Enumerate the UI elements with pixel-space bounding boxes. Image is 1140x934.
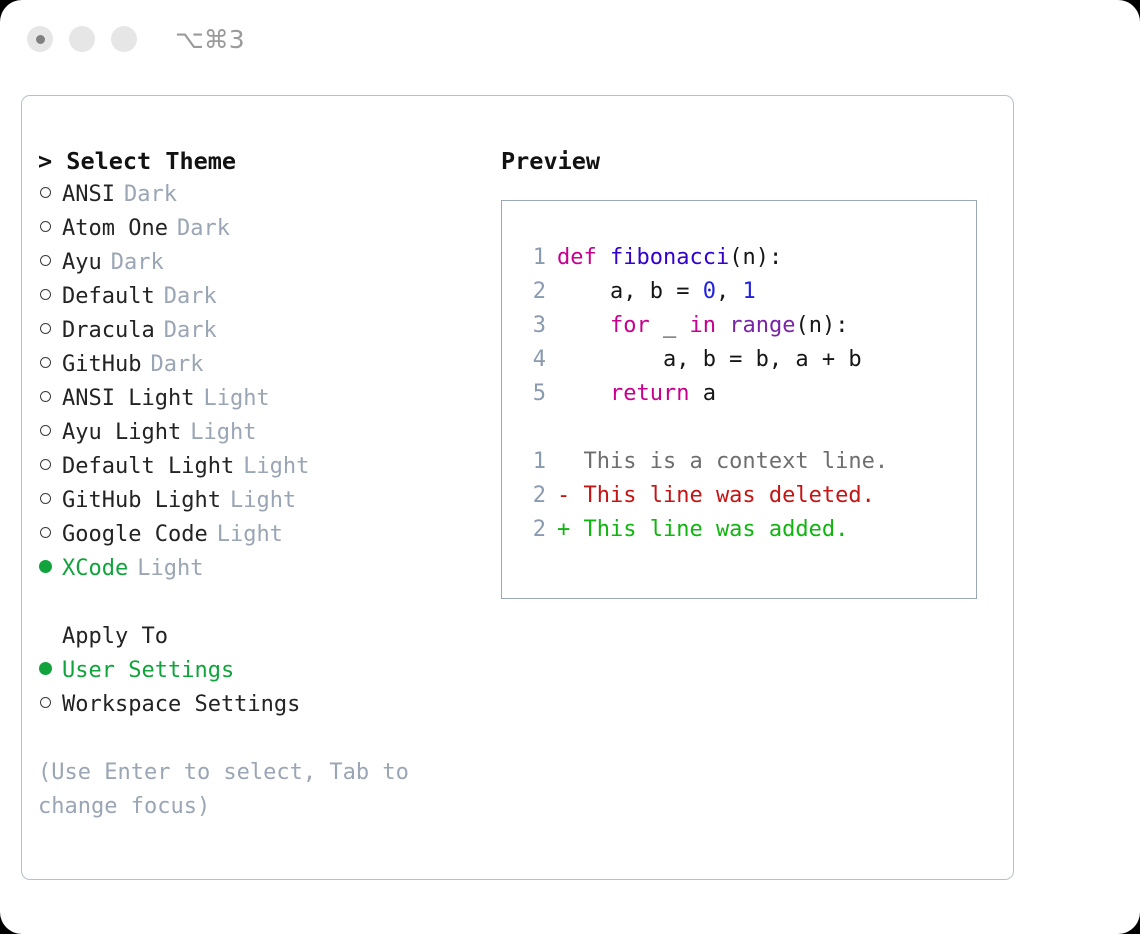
theme-list-item[interactable]: Default LightLight (38, 450, 493, 484)
app-window: ⌥⌘3 > Select Theme ANSIDarkAtom OneDarkA… (0, 0, 1140, 934)
diff-line: 2- This line was deleted. (522, 479, 976, 513)
code-line: 3 for _ in range(n): (522, 309, 976, 343)
theme-list-item[interactable]: XCodeLight (38, 552, 493, 586)
theme-list-item[interactable]: DraculaDark (38, 314, 493, 348)
theme-variant-badge: Light (208, 518, 283, 552)
theme-variant-badge: Dark (115, 178, 177, 212)
code-line: 2 a, b = 0, 1 (522, 275, 976, 309)
line-number: 1 (522, 445, 557, 479)
preview-code-box: 1def fibonacci(n):2 a, b = 0, 13 for _ i… (501, 200, 977, 599)
apply-to-heading: Apply To (38, 620, 493, 654)
line-content: a, b = 0, 1 (557, 275, 756, 309)
traffic-light-buttons (27, 26, 137, 52)
theme-name: GitHub Light (62, 484, 221, 518)
traffic-light-minimize-icon[interactable] (69, 26, 95, 52)
theme-list-item[interactable]: GitHubDark (38, 348, 493, 382)
theme-variant-badge: Light (221, 484, 296, 518)
theme-name: GitHub (62, 348, 141, 382)
code-diff-gap (522, 411, 976, 445)
theme-list-item[interactable]: GitHub LightLight (38, 484, 493, 518)
theme-variant-badge: Light (194, 382, 269, 416)
list-spacer (38, 586, 493, 620)
select-theme-heading: > Select Theme (38, 144, 493, 178)
line-content: return a (557, 377, 716, 411)
theme-name: Ayu Light (62, 416, 181, 450)
line-content: - This line was deleted. (557, 479, 875, 513)
line-content: + This line was added. (557, 513, 848, 547)
diff-line: 2+ This line was added. (522, 513, 976, 547)
theme-variant-badge: Dark (155, 314, 217, 348)
traffic-light-active-dot (36, 35, 45, 44)
dialog-frame: > Select Theme ANSIDarkAtom OneDarkAyuDa… (21, 95, 1014, 880)
line-number: 3 (522, 309, 557, 343)
diff-sample: 1 This is a context line.2- This line wa… (522, 445, 976, 547)
keyboard-shortcut-label: ⌥⌘3 (175, 25, 245, 54)
theme-variant-badge: Dark (155, 280, 217, 314)
theme-variant-badge: Dark (102, 246, 164, 280)
code-sample: 1def fibonacci(n):2 a, b = 0, 13 for _ i… (522, 241, 976, 411)
apply-to-label: Workspace Settings (62, 688, 300, 722)
line-number: 2 (522, 513, 557, 547)
theme-name: Default Light (62, 450, 234, 484)
theme-list: ANSIDarkAtom OneDarkAyuDarkDefaultDarkDr… (38, 178, 493, 586)
traffic-light-maximize-icon[interactable] (111, 26, 137, 52)
theme-list-item[interactable]: Google CodeLight (38, 518, 493, 552)
line-number: 2 (522, 479, 557, 513)
apply-to-options: User SettingsWorkspace Settings (38, 654, 493, 722)
theme-list-item[interactable]: ANSI LightLight (38, 382, 493, 416)
theme-variant-badge: Light (128, 552, 203, 586)
theme-list-item[interactable]: DefaultDark (38, 280, 493, 314)
theme-list-item[interactable]: Ayu LightLight (38, 416, 493, 450)
apply-to-label: User Settings (62, 654, 234, 688)
line-number: 5 (522, 377, 557, 411)
theme-name: Dracula (62, 314, 155, 348)
diff-line: 1 This is a context line. (522, 445, 976, 479)
theme-name: Atom One (62, 212, 168, 246)
theme-list-item[interactable]: Atom OneDark (38, 212, 493, 246)
preview-panel: Preview 1def fibonacci(n):2 a, b = 0, 13… (501, 144, 991, 599)
theme-variant-badge: Dark (168, 212, 230, 246)
theme-name: Ayu (62, 246, 102, 280)
theme-selection-panel: > Select Theme ANSIDarkAtom OneDarkAyuDa… (38, 144, 493, 824)
theme-name: Default (62, 280, 155, 314)
line-number: 1 (522, 241, 557, 275)
traffic-light-close-icon[interactable] (27, 26, 53, 52)
line-number: 2 (522, 275, 557, 309)
apply-to-option[interactable]: Workspace Settings (38, 688, 493, 722)
title-bar: ⌥⌘3 (0, 0, 1140, 78)
theme-name: XCode (62, 552, 128, 586)
theme-variant-badge: Light (181, 416, 256, 450)
code-line: 1def fibonacci(n): (522, 241, 976, 275)
code-line: 4 a, b = b, a + b (522, 343, 976, 377)
preview-heading: Preview (501, 144, 991, 178)
keyboard-hint-text: (Use Enter to select, Tab to change focu… (38, 756, 438, 824)
theme-list-item[interactable]: AyuDark (38, 246, 493, 280)
apply-to-option[interactable]: User Settings (38, 654, 493, 688)
line-content: def fibonacci(n): (557, 241, 782, 275)
line-content: a, b = b, a + b (557, 343, 862, 377)
code-line: 5 return a (522, 377, 976, 411)
theme-name: ANSI (62, 178, 115, 212)
theme-variant-badge: Dark (141, 348, 203, 382)
theme-name: Google Code (62, 518, 208, 552)
line-content: for _ in range(n): (557, 309, 848, 343)
line-content: This is a context line. (557, 445, 888, 479)
hint-spacer (38, 722, 493, 756)
theme-variant-badge: Light (234, 450, 309, 484)
line-number: 4 (522, 343, 557, 377)
theme-name: ANSI Light (62, 382, 194, 416)
dialog-columns: > Select Theme ANSIDarkAtom OneDarkAyuDa… (22, 96, 1013, 879)
theme-list-item[interactable]: ANSIDark (38, 178, 493, 212)
